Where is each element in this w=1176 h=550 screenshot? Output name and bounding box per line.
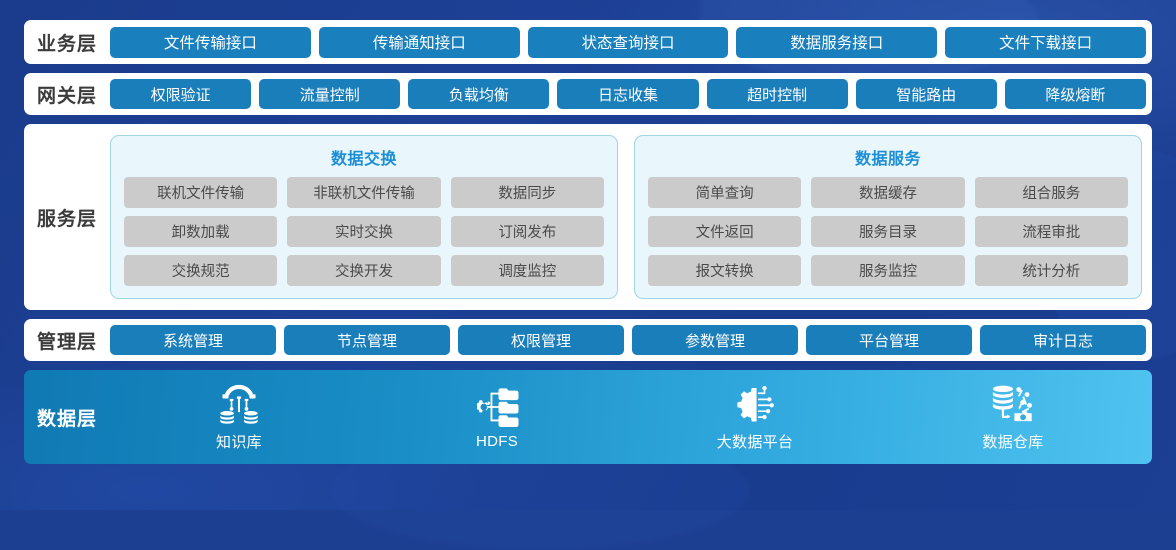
layer-body-service: 数据交换 联机文件传输 非联机文件传输 数据同步 卸数加载 实时交换 订阅发布 … — [110, 124, 1152, 310]
business-item-3[interactable]: 数据服务接口 — [736, 27, 937, 58]
data-warehouse-icon — [990, 382, 1036, 428]
service-chip[interactable]: 非联机文件传输 — [287, 177, 440, 208]
gateway-item-0[interactable]: 权限验证 — [110, 79, 251, 109]
service-chip[interactable]: 组合服务 — [975, 177, 1128, 208]
service-group-title: 数据服务 — [648, 145, 1128, 169]
service-chip[interactable]: 简单查询 — [648, 177, 801, 208]
service-chip[interactable]: 文件返回 — [648, 216, 801, 247]
gateway-item-4[interactable]: 超时控制 — [707, 79, 848, 109]
data-item-knowledge-base[interactable]: 知识库 — [110, 382, 368, 452]
layer-body-data: 知识库 — [110, 370, 1152, 464]
data-item-data-warehouse[interactable]: 数据仓库 — [884, 382, 1142, 452]
service-chip[interactable]: 服务监控 — [811, 255, 964, 286]
data-item-label: 大数据平台 — [717, 431, 794, 452]
management-item-4[interactable]: 平台管理 — [806, 325, 972, 355]
architecture-diagram: 业务层 文件传输接口 传输通知接口 状态查询接口 数据服务接口 文件下载接口 网… — [0, 0, 1176, 510]
service-group-data-exchange: 数据交换 联机文件传输 非联机文件传输 数据同步 卸数加载 实时交换 订阅发布 … — [110, 135, 618, 299]
layer-label-service: 服务层 — [24, 124, 110, 310]
data-item-big-data-platform[interactable]: 大数据平台 — [626, 382, 884, 452]
service-group-title: 数据交换 — [124, 145, 604, 169]
service-chip[interactable]: 调度监控 — [451, 255, 604, 286]
layer-body-management: 系统管理 节点管理 权限管理 参数管理 平台管理 审计日志 — [110, 319, 1152, 361]
layer-management: 管理层 系统管理 节点管理 权限管理 参数管理 平台管理 审计日志 — [24, 319, 1152, 361]
service-chip[interactable]: 统计分析 — [975, 255, 1128, 286]
data-item-label: HDFS — [476, 433, 518, 450]
layer-gateway: 网关层 权限验证 流量控制 负载均衡 日志收集 超时控制 智能路由 降级熔断 — [24, 73, 1152, 115]
business-item-2[interactable]: 状态查询接口 — [528, 27, 729, 58]
business-item-0[interactable]: 文件传输接口 — [110, 27, 311, 58]
service-chip[interactable]: 订阅发布 — [451, 216, 604, 247]
gateway-item-1[interactable]: 流量控制 — [259, 79, 400, 109]
management-item-2[interactable]: 权限管理 — [458, 325, 624, 355]
layer-label-management: 管理层 — [24, 319, 110, 361]
layer-stack: 业务层 文件传输接口 传输通知接口 状态查询接口 数据服务接口 文件下载接口 网… — [0, 0, 1176, 510]
service-group-grid: 联机文件传输 非联机文件传输 数据同步 卸数加载 实时交换 订阅发布 交换规范 … — [124, 177, 604, 286]
service-chip[interactable]: 数据缓存 — [811, 177, 964, 208]
service-chip[interactable]: 数据同步 — [451, 177, 604, 208]
data-item-hdfs[interactable]: HDFS — [368, 384, 626, 450]
layer-label-data: 数据层 — [24, 370, 110, 464]
service-chip[interactable]: 服务目录 — [811, 216, 964, 247]
service-chip[interactable]: 联机文件传输 — [124, 177, 277, 208]
gateway-item-3[interactable]: 日志收集 — [557, 79, 698, 109]
management-item-5[interactable]: 审计日志 — [980, 325, 1146, 355]
business-item-4[interactable]: 文件下载接口 — [945, 27, 1146, 58]
management-item-3[interactable]: 参数管理 — [632, 325, 798, 355]
layer-service: 服务层 数据交换 联机文件传输 非联机文件传输 数据同步 卸数加载 实时交换 订… — [24, 124, 1152, 310]
service-group-grid: 简单查询 数据缓存 组合服务 文件返回 服务目录 流程审批 报文转换 服务监控 … — [648, 177, 1128, 286]
layer-label-gateway: 网关层 — [24, 73, 110, 115]
service-chip[interactable]: 卸数加载 — [124, 216, 277, 247]
knowledge-base-icon — [216, 382, 262, 428]
service-group-data-service: 数据服务 简单查询 数据缓存 组合服务 文件返回 服务目录 流程审批 报文转换 … — [634, 135, 1142, 299]
gateway-item-5[interactable]: 智能路由 — [856, 79, 997, 109]
hdfs-folder-tree-icon — [474, 384, 520, 430]
gateway-item-6[interactable]: 降级熔断 — [1005, 79, 1146, 109]
data-item-label: 知识库 — [216, 431, 262, 452]
gateway-item-2[interactable]: 负载均衡 — [408, 79, 549, 109]
management-item-1[interactable]: 节点管理 — [284, 325, 450, 355]
layer-business: 业务层 文件传输接口 传输通知接口 状态查询接口 数据服务接口 文件下载接口 — [24, 20, 1152, 64]
layer-data: 数据层 — [24, 370, 1152, 464]
layer-body-business: 文件传输接口 传输通知接口 状态查询接口 数据服务接口 文件下载接口 — [110, 20, 1152, 64]
management-item-0[interactable]: 系统管理 — [110, 325, 276, 355]
layer-body-gateway: 权限验证 流量控制 负载均衡 日志收集 超时控制 智能路由 降级熔断 — [110, 73, 1152, 115]
layer-label-business: 业务层 — [24, 20, 110, 64]
data-item-label: 数据仓库 — [982, 431, 1043, 452]
service-chip[interactable]: 交换开发 — [287, 255, 440, 286]
service-chip[interactable]: 实时交换 — [287, 216, 440, 247]
service-chip[interactable]: 报文转换 — [648, 255, 801, 286]
business-item-1[interactable]: 传输通知接口 — [319, 27, 520, 58]
big-data-platform-icon — [732, 382, 778, 428]
service-chip[interactable]: 流程审批 — [975, 216, 1128, 247]
service-chip[interactable]: 交换规范 — [124, 255, 277, 286]
